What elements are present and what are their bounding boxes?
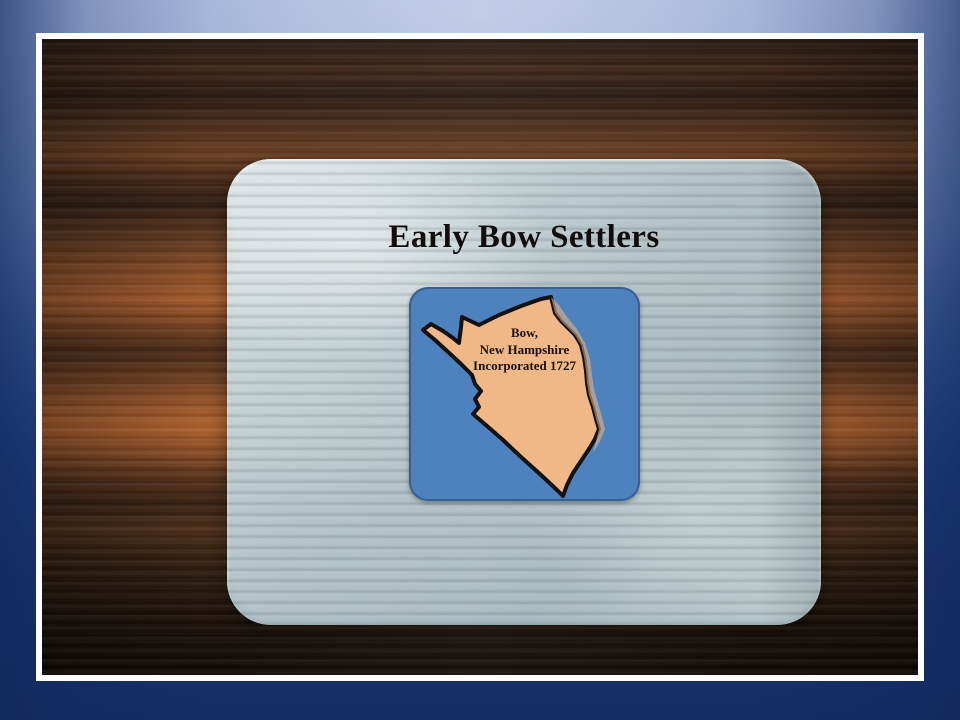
page-title: Early Bow Settlers — [227, 219, 821, 256]
map-figure: Bow, New Hampshire Incorporated 1727 — [409, 287, 640, 501]
bow-nh-map-svg — [409, 287, 640, 501]
content-panel: Early Bow Settlers Bow, New Hampshire In… — [227, 159, 821, 625]
wood-texture-mat: Early Bow Settlers Bow, New Hampshire In… — [42, 39, 918, 675]
white-picture-frame: Early Bow Settlers Bow, New Hampshire In… — [36, 33, 924, 681]
slide-canvas: Early Bow Settlers Bow, New Hampshire In… — [0, 0, 960, 720]
